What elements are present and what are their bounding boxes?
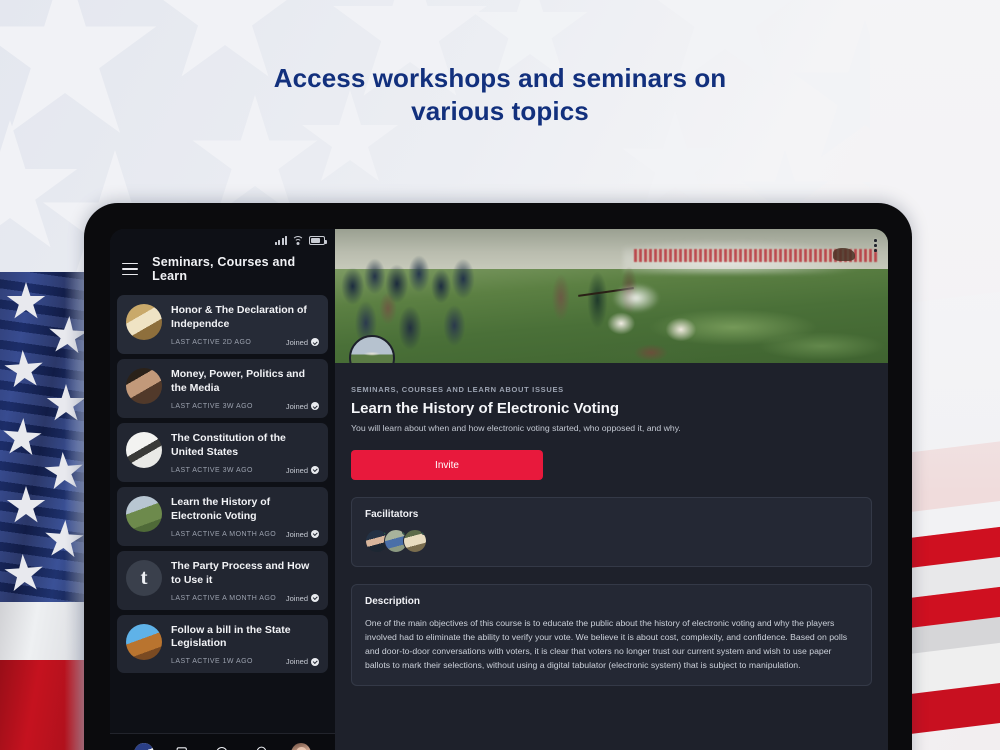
headline-line-2: various topics	[0, 95, 1000, 128]
hamburger-menu-icon[interactable]	[122, 263, 138, 276]
joined-badge: Joined	[286, 594, 319, 603]
flag-photo-left	[0, 272, 92, 750]
check-circle-icon	[311, 658, 319, 666]
sidebar-header: Seminars, Courses and Learn	[110, 249, 335, 295]
joined-label: Joined	[286, 338, 308, 347]
check-circle-icon	[311, 402, 319, 410]
kebab-menu-icon[interactable]	[872, 237, 879, 254]
joined-label: Joined	[286, 466, 308, 475]
course-avatar	[126, 432, 162, 468]
course-list-item[interactable]: Honor & The Declaration of IndependceLAS…	[117, 295, 328, 354]
course-name: The Party Process and How to Use it	[171, 560, 319, 588]
course-name: Learn the History of Electronic Voting	[171, 496, 319, 524]
course-name: The Constitution of the United States	[171, 432, 319, 460]
facilitators-avatars[interactable]	[365, 529, 858, 553]
tablet-device-frame: Seminars, Courses and Learn Honor & The …	[84, 203, 912, 750]
course-info: Money, Power, Politics and the MediaLAST…	[171, 368, 319, 411]
joined-badge: Joined	[286, 530, 319, 539]
joined-label: Joined	[286, 657, 308, 666]
course-last-active: LAST ACTIVE 2D AGO	[171, 339, 251, 346]
course-name: Follow a bill in the State Legislation	[171, 624, 319, 652]
joined-label: Joined	[286, 594, 308, 603]
course-meta: LAST ACTIVE 1W AGOJoined	[171, 657, 319, 666]
joined-badge: Joined	[286, 338, 319, 347]
battery-icon	[309, 236, 325, 245]
main-content: SEMINARS, COURSES AND LEARN ABOUT ISSUES…	[335, 229, 888, 750]
sidebar-title: Seminars, Courses and Learn	[152, 255, 325, 283]
course-group-avatar	[349, 335, 395, 363]
course-list-item[interactable]: tThe Party Process and How to Use itLAST…	[117, 551, 328, 610]
joined-badge: Joined	[286, 657, 319, 666]
chat-bubbles-icon[interactable]	[173, 744, 193, 750]
course-last-active: LAST ACTIVE A MONTH AGO	[171, 595, 276, 602]
course-last-active: LAST ACTIVE A MONTH AGO	[171, 531, 276, 538]
facilitators-panel: Facilitators	[351, 497, 872, 567]
headline-line-1: Access workshops and seminars on	[0, 62, 1000, 95]
course-list-item[interactable]: The Constitution of the United StatesLAS…	[117, 423, 328, 482]
flag-red-stripe	[0, 660, 92, 750]
facilitators-title: Facilitators	[365, 509, 858, 520]
course-avatar: t	[126, 560, 162, 596]
course-info: The Party Process and How to Use itLAST …	[171, 560, 319, 603]
status-bar	[110, 229, 335, 249]
course-last-active: LAST ACTIVE 1W AGO	[171, 658, 253, 665]
signal-bars-icon	[275, 236, 288, 245]
course-avatar	[126, 624, 162, 660]
profile-avatar-icon[interactable]	[291, 744, 311, 750]
check-circle-icon	[311, 338, 319, 346]
course-info: Follow a bill in the State LegislationLA…	[171, 624, 319, 667]
main-scroll-area[interactable]: SEMINARS, COURSES AND LEARN ABOUT ISSUES…	[335, 363, 888, 750]
flag-white-stripe	[0, 602, 92, 664]
course-last-active: LAST ACTIVE 3W AGO	[171, 403, 253, 410]
course-info: Learn the History of Electronic VotingLA…	[171, 496, 319, 539]
invite-button[interactable]: Invite	[351, 450, 543, 480]
bell-notification-icon[interactable]	[252, 744, 272, 750]
breadcrumb: SEMINARS, COURSES AND LEARN ABOUT ISSUES	[351, 385, 872, 394]
course-list[interactable]: Honor & The Declaration of IndependceLAS…	[110, 295, 335, 733]
description-body: One of the main objectives of this cours…	[365, 616, 858, 672]
page-subtitle: You will learn about when and how electr…	[351, 423, 872, 433]
wifi-icon	[292, 236, 304, 245]
course-name: Money, Power, Politics and the Media	[171, 368, 319, 396]
course-name: Honor & The Declaration of Independce	[171, 304, 319, 332]
course-meta: LAST ACTIVE A MONTH AGOJoined	[171, 530, 319, 539]
app-logo-icon[interactable]	[134, 744, 154, 750]
check-circle-icon	[311, 466, 319, 474]
description-title: Description	[365, 596, 858, 607]
search-icon[interactable]	[212, 744, 232, 750]
page-headline: Access workshops and seminars on various…	[0, 62, 1000, 129]
joined-badge: Joined	[286, 466, 319, 475]
joined-label: Joined	[286, 530, 308, 539]
course-avatar	[126, 304, 162, 340]
hero-image	[335, 229, 888, 363]
course-meta: LAST ACTIVE 3W AGOJoined	[171, 402, 319, 411]
description-panel: Description One of the main objectives o…	[351, 584, 872, 686]
online-status-dot	[421, 529, 427, 535]
course-info: The Constitution of the United StatesLAS…	[171, 432, 319, 475]
course-meta: LAST ACTIVE 3W AGOJoined	[171, 466, 319, 475]
joined-badge: Joined	[286, 402, 319, 411]
bottom-navigation	[110, 733, 335, 750]
course-meta: LAST ACTIVE 2D AGOJoined	[171, 338, 319, 347]
sidebar: Seminars, Courses and Learn Honor & The …	[110, 229, 335, 750]
course-list-item[interactable]: Learn the History of Electronic VotingLA…	[117, 487, 328, 546]
course-list-item[interactable]: Money, Power, Politics and the MediaLAST…	[117, 359, 328, 418]
course-info: Honor & The Declaration of IndependceLAS…	[171, 304, 319, 347]
course-list-item[interactable]: Follow a bill in the State LegislationLA…	[117, 615, 328, 674]
page-title: Learn the History of Electronic Voting	[351, 400, 872, 417]
flag-blue-field	[0, 272, 92, 610]
check-circle-icon	[311, 530, 319, 538]
hero-painting	[335, 229, 888, 363]
course-avatar	[126, 368, 162, 404]
course-last-active: LAST ACTIVE 3W AGO	[171, 467, 253, 474]
tablet-screen: Seminars, Courses and Learn Honor & The …	[110, 229, 888, 750]
course-avatar	[126, 496, 162, 532]
course-meta: LAST ACTIVE A MONTH AGOJoined	[171, 594, 319, 603]
check-circle-icon	[311, 594, 319, 602]
joined-label: Joined	[286, 402, 308, 411]
